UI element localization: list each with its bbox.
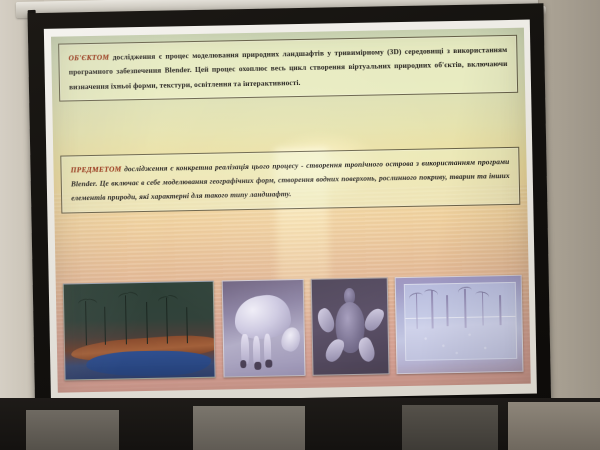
paragraph-subject: ПРЕДМЕТОМ дослідження є конкретна реаліз… — [71, 155, 511, 206]
wall-panel-3 — [402, 405, 498, 450]
thumbnail-animal-model — [221, 279, 305, 377]
thumbnail-palms-clay — [395, 275, 524, 374]
lead-word-object: ОБ'ЄКТОМ — [68, 53, 109, 63]
screen-surface: ОБ'ЄКТОМ дослідження є процес моделюванн… — [44, 20, 537, 403]
wall-panel-1 — [26, 410, 119, 450]
classroom-photo: ОБ'ЄКТОМ дослідження є процес моделюванн… — [0, 0, 600, 450]
island-lagoon — [86, 350, 212, 377]
wall-panel-2 — [193, 406, 305, 450]
paragraph-object: ОБ'ЄКТОМ дослідження є процес моделюванн… — [68, 43, 508, 94]
thumbnail-island-dusk — [63, 281, 216, 380]
render-thumbnail-strip — [63, 275, 524, 380]
projection-screen: ОБ'ЄКТОМ дослідження є процес моделюванн… — [28, 3, 552, 425]
paragraph-object-text: дослідження є процес моделювання природн… — [69, 45, 508, 91]
wall-panel-4 — [508, 402, 600, 450]
thumbnail-turtle-model — [311, 278, 389, 376]
render-foliage-speckle — [404, 283, 516, 360]
paragraph-subject-text: дослідження є конкретна реалізація цього… — [71, 157, 510, 203]
textbox-object: ОБ'ЄКТОМ дослідження є процес моделюванн… — [58, 35, 518, 101]
textbox-subject: ПРЕДМЕТОМ дослідження є конкретна реаліз… — [60, 147, 520, 213]
clay-render-canvas — [403, 282, 517, 361]
lead-word-subject: ПРЕДМЕТОМ — [71, 164, 122, 174]
projected-slide: ОБ'ЄКТОМ дослідження є процес моделюванн… — [51, 28, 531, 393]
